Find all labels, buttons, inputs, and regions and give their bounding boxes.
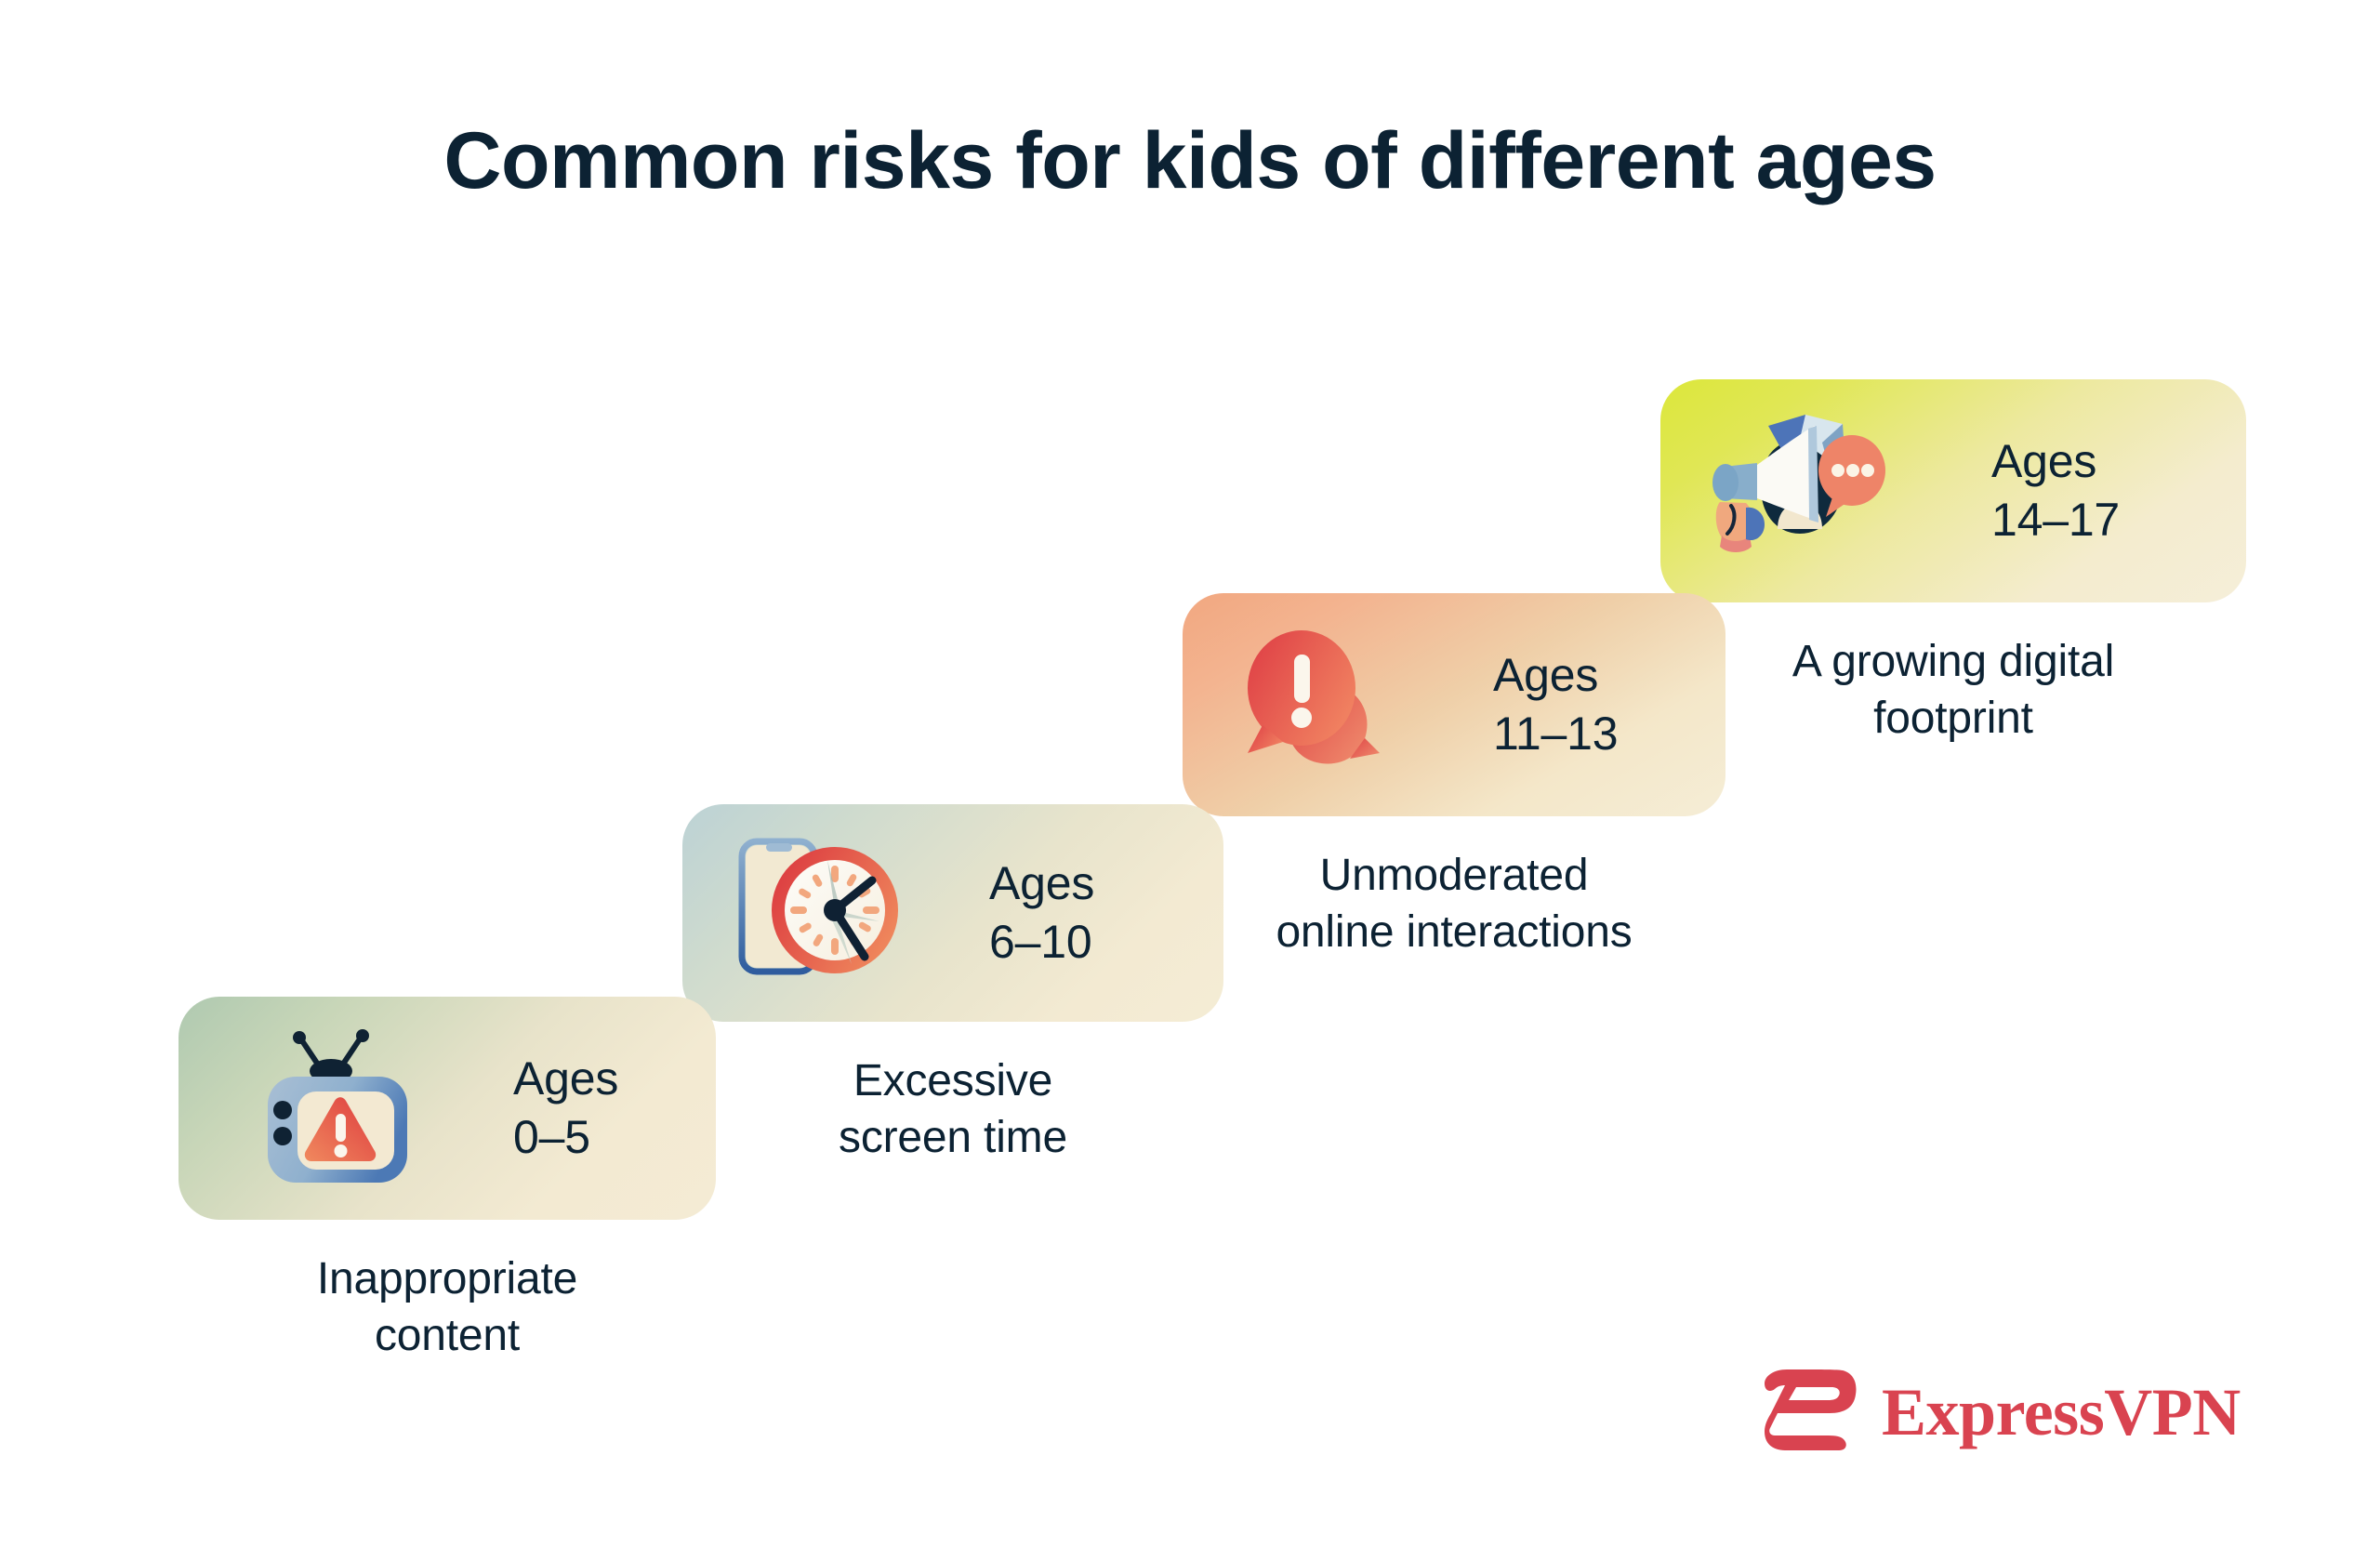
step-ages-6-10: Ages 6–10 Excessive screen time: [682, 804, 1223, 1167]
card-ages-0-5[interactable]: Ages 0–5: [178, 997, 716, 1220]
expressvpn-e-mark: [1765, 1367, 1858, 1457]
step-ages-14-17: Ages 14–17 A growing digital footprint: [1660, 379, 2246, 747]
page-title: Common risks for kids of different ages: [0, 119, 2380, 203]
age-label-11-13: Ages 11–13: [1493, 646, 1618, 763]
tv-warning-icon: [253, 1025, 420, 1192]
caption-ages-11-13: Unmoderated online interactions: [1183, 848, 1725, 961]
caption-ages-14-17: A growing digital footprint: [1660, 634, 2246, 747]
caption-ages-0-5: Inappropriate content: [178, 1251, 716, 1365]
step-ages-11-13: Ages 11–13 Unmoderated online interactio…: [1183, 593, 1725, 961]
infographic-canvas: Common risks for kids of different ages: [0, 0, 2380, 1561]
caption-ages-6-10: Excessive screen time: [682, 1053, 1223, 1167]
expressvpn-wordmark: ExpressVPN: [1882, 1379, 2241, 1446]
expressvpn-logo[interactable]: ExpressVPN: [1765, 1367, 2241, 1457]
phone-clock-icon: [733, 825, 909, 1001]
speech-bubbles-alert-icon: [1231, 621, 1398, 788]
age-label-0-5: Ages 0–5: [513, 1050, 618, 1167]
card-ages-14-17[interactable]: Ages 14–17: [1660, 379, 2246, 602]
card-ages-6-10[interactable]: Ages 6–10: [682, 804, 1223, 1022]
card-ages-11-13[interactable]: Ages 11–13: [1183, 593, 1725, 816]
age-label-6-10: Ages 6–10: [989, 854, 1094, 972]
megaphone-profile-icon: [1703, 398, 1889, 584]
age-label-14-17: Ages 14–17: [1991, 432, 2120, 549]
step-ages-0-5: Ages 0–5 Inappropriate content: [178, 997, 716, 1365]
